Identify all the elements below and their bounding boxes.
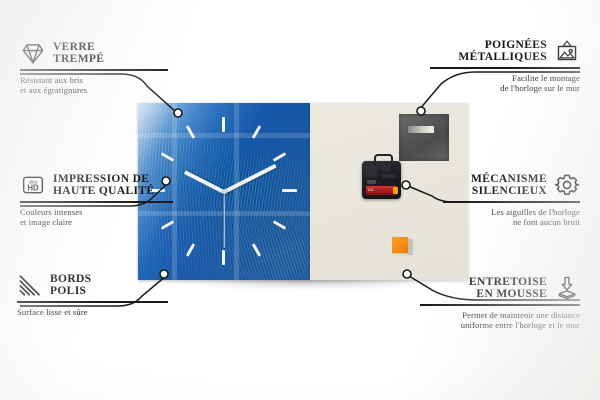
callout-rule — [20, 201, 173, 203]
clock-mechanism: AA — [362, 161, 401, 199]
callout-subtitle: Résistant aux bris et aux égratignures — [20, 75, 170, 95]
gear-icon — [554, 172, 580, 198]
mechanism-hanger-tab — [374, 154, 393, 165]
callout-subtitle: Les aiguilles de l'horloge ne font aucun… — [443, 207, 580, 227]
diamond-icon — [20, 40, 46, 66]
callout-mecanisme-silencieux: MÉCANISME SILENCIEUX Les aiguilles de l'… — [443, 172, 580, 227]
infographic-stage: AA — [0, 0, 600, 400]
foam-spacer-icon — [554, 275, 580, 301]
callout-title: IMPRESSION DE HAUTE QUALITÉ — [53, 173, 154, 198]
product-image: AA — [138, 103, 468, 280]
mechanism-detail — [366, 166, 377, 177]
callout-header: VERRE TREMPÉ — [20, 40, 170, 66]
foam-spacer-side — [408, 239, 413, 255]
foam-spacer-sticker — [392, 237, 408, 253]
callout-title: VERRE TREMPÉ — [53, 41, 104, 66]
svg-text:HD: HD — [27, 183, 39, 192]
mechanism-detail — [382, 165, 390, 171]
mechanism-detail — [367, 180, 376, 184]
callout-header: POIGNÉES MÉTALLIQUES — [430, 38, 580, 64]
battery: AA — [366, 186, 397, 195]
callout-subtitle: Facilite le montage de l'horloge sur le … — [430, 73, 580, 93]
picture-frame-icon — [554, 38, 580, 64]
callout-subtitle: Permet de maintenir une distance uniform… — [420, 310, 580, 330]
callout-rule — [20, 69, 168, 71]
callout-header: ENTRETOISE EN MOUSSE — [420, 275, 580, 301]
callout-title: MÉCANISME SILENCIEUX — [471, 173, 547, 198]
callout-rule — [420, 304, 580, 306]
callout-rule — [430, 67, 580, 69]
callout-title: BORDS POLIS — [50, 273, 91, 298]
callout-entretoise-en-mousse: ENTRETOISE EN MOUSSE Permet de maintenir… — [420, 275, 580, 330]
callout-rule — [443, 201, 580, 203]
callout-title: POIGNÉES MÉTALLIQUES — [458, 39, 547, 64]
callout-verre-trempe: VERRE TREMPÉ Résistant aux bris et aux é… — [20, 40, 170, 95]
handle-slot — [408, 126, 434, 133]
callout-header: BORDS POLIS — [17, 272, 167, 298]
battery-positive-terminal — [393, 187, 398, 194]
callout-bords-polis: BORDS POLIS Surface lisse et sûre — [17, 272, 167, 317]
battery-label: AA — [368, 187, 374, 192]
callout-header: MÉCANISME SILENCIEUX — [443, 172, 580, 198]
callout-impression-haute-qualite: ultra HD IMPRESSION DE HAUTE QUALITÉ Cou… — [20, 172, 175, 227]
callout-subtitle: Couleurs intenses et image claire — [20, 207, 175, 227]
callout-title: ENTRETOISE EN MOUSSE — [469, 276, 547, 301]
callout-subtitle: Surface lisse et sûre — [17, 307, 167, 317]
ultra-hd-icon: ultra HD — [20, 172, 46, 198]
callout-rule — [17, 301, 168, 303]
polished-edge-icon — [17, 272, 43, 298]
callout-header: ultra HD IMPRESSION DE HAUTE QUALITÉ — [20, 172, 175, 198]
mechanism-detail — [382, 174, 395, 178]
callout-poignees-metalliques: POIGNÉES MÉTALLIQUES Facilite le montage… — [430, 38, 580, 93]
metal-handle-plate — [399, 114, 449, 161]
